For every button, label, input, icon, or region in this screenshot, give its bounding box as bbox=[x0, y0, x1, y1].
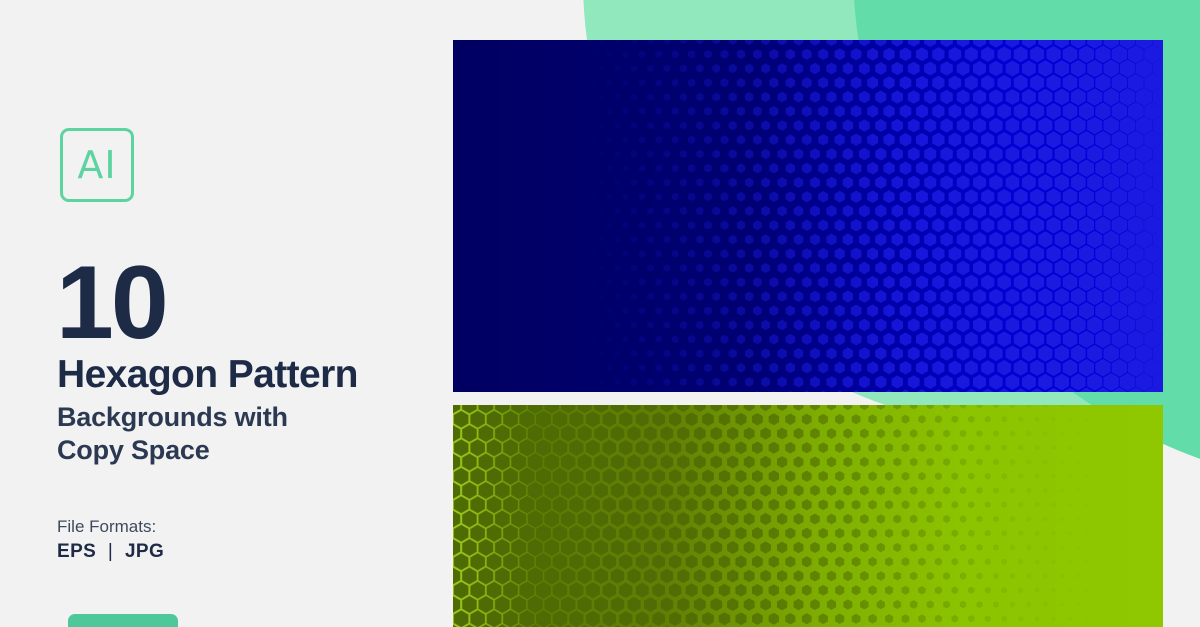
page-subtitle: Backgrounds with Copy Space bbox=[57, 401, 288, 467]
subtitle-line-2: Copy Space bbox=[57, 434, 288, 467]
file-formats-label: File Formats: bbox=[57, 516, 156, 538]
file-formats-value: EPS | JPG bbox=[57, 540, 164, 564]
page-title: Hexagon Pattern bbox=[57, 352, 358, 398]
preview-panel-green[interactable] bbox=[453, 405, 1163, 627]
ai-badge: AI bbox=[60, 128, 134, 202]
info-panel: AI 10 Hexagon Pattern Backgrounds with C… bbox=[0, 0, 453, 627]
cta-button[interactable] bbox=[68, 614, 178, 627]
format-jpg: JPG bbox=[125, 541, 164, 562]
green-hexagon-halftone-graphic bbox=[453, 405, 1163, 627]
subtitle-line-1: Backgrounds with bbox=[57, 401, 288, 434]
item-count: 10 bbox=[56, 251, 166, 355]
format-eps: EPS bbox=[57, 541, 96, 562]
preview-panel-blue[interactable] bbox=[453, 40, 1163, 392]
format-separator: | bbox=[102, 541, 119, 562]
ai-badge-label: AI bbox=[63, 131, 131, 199]
poster-canvas: AI 10 Hexagon Pattern Backgrounds with C… bbox=[0, 0, 1200, 627]
blue-hexagon-halftone-graphic bbox=[453, 40, 1163, 392]
